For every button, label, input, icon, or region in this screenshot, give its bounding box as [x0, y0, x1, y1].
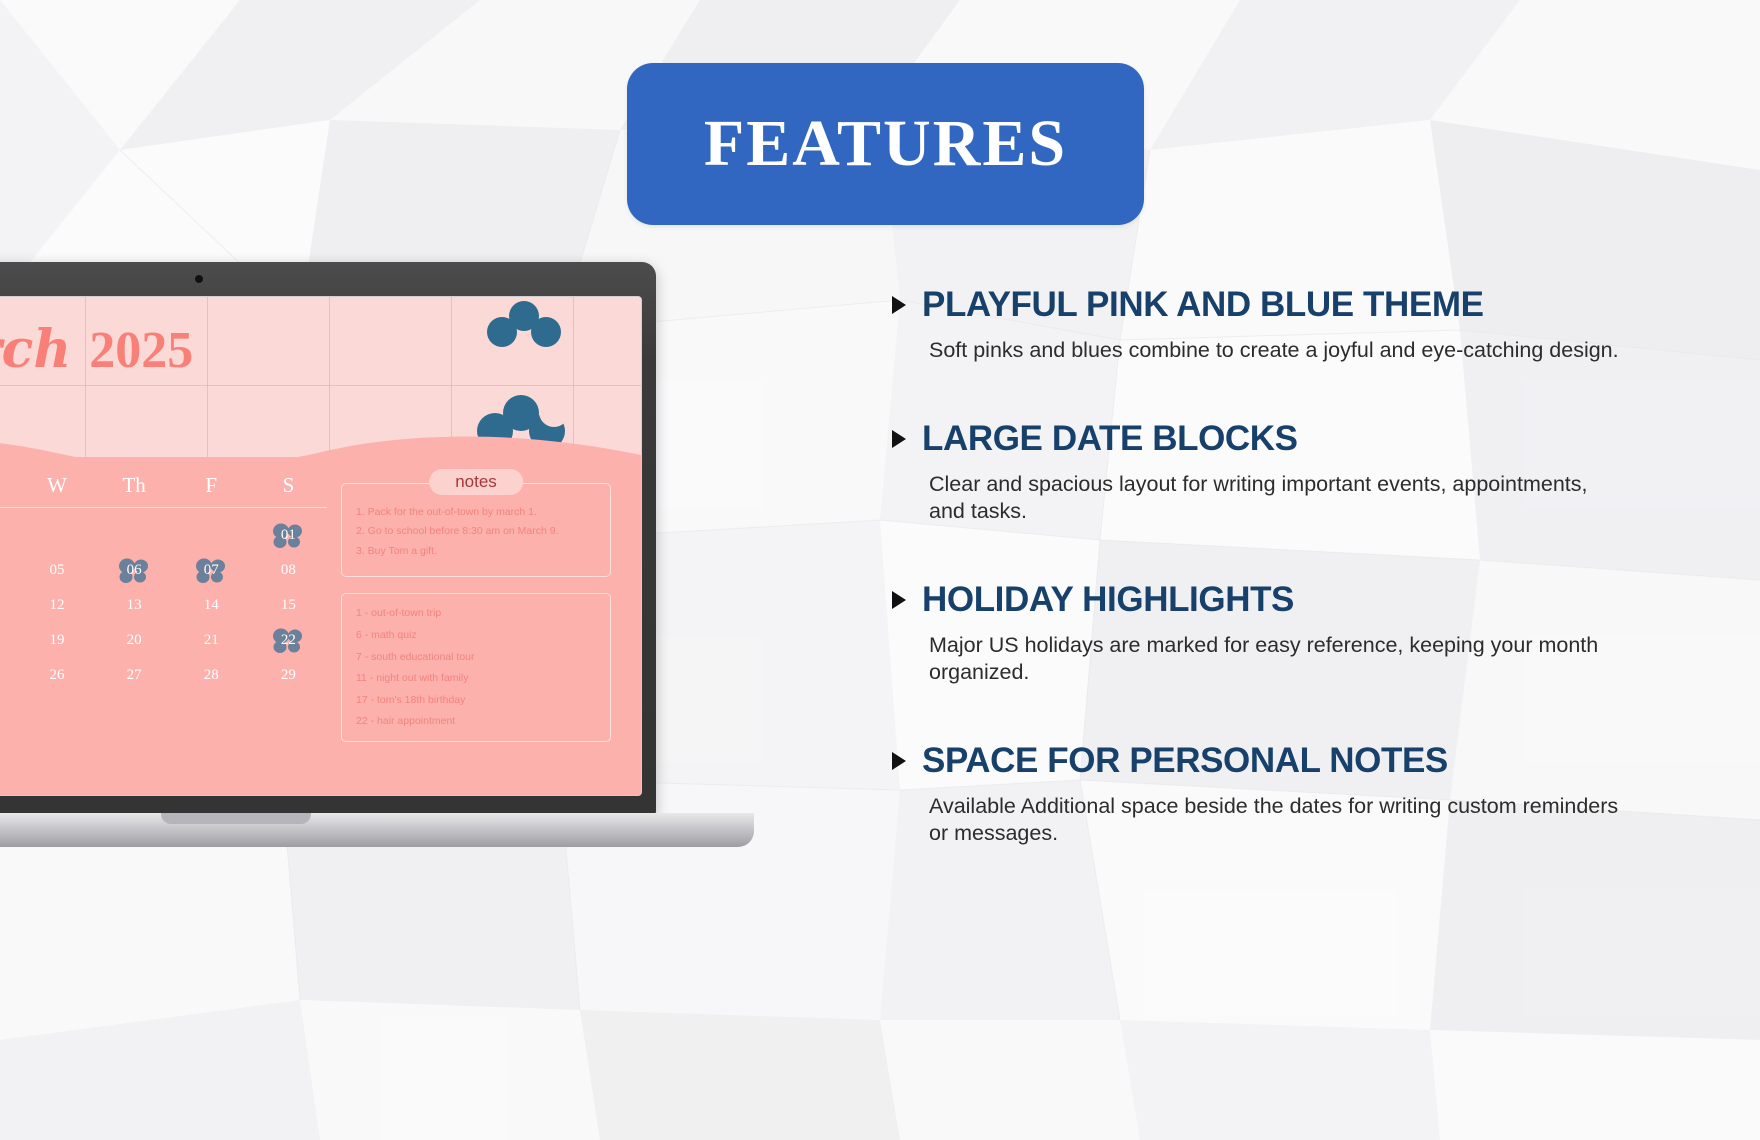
calendar-date-cell[interactable]: 29 [250, 667, 327, 684]
feature-title-3: HOLIDAY HIGHLIGHTS [922, 580, 1294, 620]
blue-flower-icon [487, 301, 561, 355]
calendar-date-cell[interactable]: 18 [0, 632, 18, 649]
calendar-template: March 2025 S M [0, 297, 641, 795]
day-header-4: Th [96, 473, 173, 498]
triangle-right-icon [892, 296, 906, 314]
calendar-date-number: 14 [204, 597, 219, 613]
calendar-month: March [0, 319, 71, 380]
calendar-date-number: 05 [49, 562, 64, 578]
calendar-date-cell[interactable]: 05 [18, 562, 95, 579]
legend-line: 22 - hair appointment [356, 715, 596, 728]
calendar-date-cell[interactable]: 15 [250, 597, 327, 614]
laptop-base [0, 813, 754, 847]
calendar-date-number: 26 [49, 667, 64, 683]
event-legend-box: 1 - out-of-town trip 6 - math quiz 7 - s… [341, 593, 611, 742]
feature-item-1: PLAYFUL PINK AND BLUE THEME Soft pinks a… [888, 285, 1648, 365]
feature-description-3: Major US holidays are marked for easy re… [929, 632, 1629, 687]
laptop-screen: March 2025 S M [0, 296, 642, 796]
calendar-date-cell[interactable]: 27 [96, 667, 173, 684]
notes-label: notes [429, 469, 523, 495]
feature-heading-row-3: HOLIDAY HIGHLIGHTS [888, 580, 1648, 620]
calendar-date-cell[interactable]: 07 [173, 562, 250, 579]
calendar-week-rows: 0102030405060708091011121314151617181920… [0, 518, 327, 728]
calendar-date-number: 01 [281, 527, 296, 543]
note-line: 2. Go to school before 8:30 am on March … [356, 525, 596, 538]
feature-item-4: SPACE FOR PERSONAL NOTES Available Addit… [888, 741, 1648, 848]
feature-item-2: LARGE DATE BLOCKS Clear and spacious lay… [888, 419, 1648, 526]
calendar-day-headers: S M T W Th F S [0, 473, 327, 507]
legend-line: 11 - night out with family [356, 672, 596, 685]
feature-description-2: Clear and spacious layout for writing im… [929, 471, 1629, 526]
calendar-date-number: 13 [127, 597, 142, 613]
feature-list: PLAYFUL PINK AND BLUE THEME Soft pinks a… [888, 285, 1648, 902]
calendar-week-row: 09101112131415 [0, 588, 327, 623]
calendar-week-row: 02030405060708 [0, 553, 327, 588]
day-header-5: F [173, 473, 250, 498]
calendar-date-cell[interactable]: 04 [0, 562, 18, 579]
calendar-date-cell[interactable]: 19 [18, 632, 95, 649]
calendar-date-number: 22 [281, 632, 296, 648]
calendar-date-number: 15 [281, 597, 296, 613]
header-divider [0, 507, 327, 508]
calendar-date-cell[interactable]: 12 [18, 597, 95, 614]
note-line: 1. Pack for the out-of-town by march 1. [356, 506, 596, 519]
calendar-date-number: 08 [281, 562, 296, 578]
slide-canvas: FEATURES PLAYFUL PINK AND BLUE THEME Sof… [0, 0, 1760, 1140]
calendar-week-row: 16171819202122 [0, 623, 327, 658]
calendar-date-cell[interactable]: 01 [250, 527, 327, 544]
calendar-grid: S M T W Th F S 0102030405060708091011121… [0, 473, 327, 728]
triangle-right-icon [892, 752, 906, 770]
calendar-date-cell[interactable]: 13 [96, 597, 173, 614]
laptop-lid: March 2025 S M [0, 262, 656, 817]
calendar-date-number: 27 [127, 667, 142, 683]
calendar-date-cell[interactable]: 28 [173, 667, 250, 684]
feature-item-3: HOLIDAY HIGHLIGHTS Major US holidays are… [888, 580, 1648, 687]
calendar-date-number: 29 [281, 667, 296, 683]
laptop-trackpad-notch [161, 813, 311, 824]
calendar-date-cell[interactable]: 20 [96, 632, 173, 649]
calendar-date-number: 07 [204, 562, 219, 578]
calendar-year: 2025 [89, 322, 193, 379]
calendar-date-cell[interactable]: 14 [173, 597, 250, 614]
calendar-date-cell[interactable]: 06 [96, 562, 173, 579]
feature-description-4: Available Additional space beside the da… [929, 793, 1629, 848]
calendar-date-cell[interactable]: 11 [0, 597, 18, 614]
features-header-pill: FEATURES [627, 63, 1144, 225]
triangle-right-icon [892, 591, 906, 609]
calendar-date-number: 28 [204, 667, 219, 683]
laptop-bezel [0, 262, 656, 296]
feature-description-1: Soft pinks and blues combine to create a… [929, 337, 1629, 365]
calendar-date-cell[interactable]: 08 [250, 562, 327, 579]
legend-line: 6 - math quiz [356, 629, 596, 642]
day-header-2: T [0, 473, 18, 498]
calendar-week-row: 23242526272829 [0, 658, 327, 693]
triangle-right-icon [892, 430, 906, 448]
calendar-week-row: 3031 [0, 693, 327, 728]
calendar-date-number: 19 [49, 632, 64, 648]
laptop-mockup: March 2025 S M [0, 262, 772, 872]
note-line: 3. Buy Tom a gift. [356, 545, 596, 558]
legend-line: 17 - tom's 18th birthday [356, 694, 596, 707]
calendar-date-number: 21 [204, 632, 219, 648]
feature-heading-row-4: SPACE FOR PERSONAL NOTES [888, 741, 1648, 781]
feature-title-1: PLAYFUL PINK AND BLUE THEME [922, 285, 1484, 325]
calendar-date-number: 12 [49, 597, 64, 613]
webcam-icon [195, 275, 203, 283]
feature-title-4: SPACE FOR PERSONAL NOTES [922, 741, 1448, 781]
legend-line: 1 - out-of-town trip [356, 607, 596, 620]
calendar-title: March 2025 [0, 319, 193, 380]
feature-heading-row-2: LARGE DATE BLOCKS [888, 419, 1648, 459]
feature-title-2: LARGE DATE BLOCKS [922, 419, 1298, 459]
calendar-date-cell[interactable]: 21 [173, 632, 250, 649]
day-header-6: S [250, 473, 327, 498]
page-title: FEATURES [704, 106, 1067, 182]
calendar-date-number: 06 [127, 562, 142, 578]
calendar-week-row: 01 [0, 518, 327, 553]
day-header-3: W [18, 473, 95, 498]
notes-panel: notes 1. Pack for the out-of-town by mar… [341, 483, 611, 742]
legend-line: 7 - south educational tour [356, 651, 596, 664]
calendar-date-cell[interactable]: 22 [250, 632, 327, 649]
calendar-date-number: 20 [127, 632, 142, 648]
calendar-date-cell[interactable]: 26 [18, 667, 95, 684]
feature-heading-row-1: PLAYFUL PINK AND BLUE THEME [888, 285, 1648, 325]
calendar-date-cell[interactable]: 25 [0, 667, 18, 684]
notes-box: notes 1. Pack for the out-of-town by mar… [341, 483, 611, 577]
